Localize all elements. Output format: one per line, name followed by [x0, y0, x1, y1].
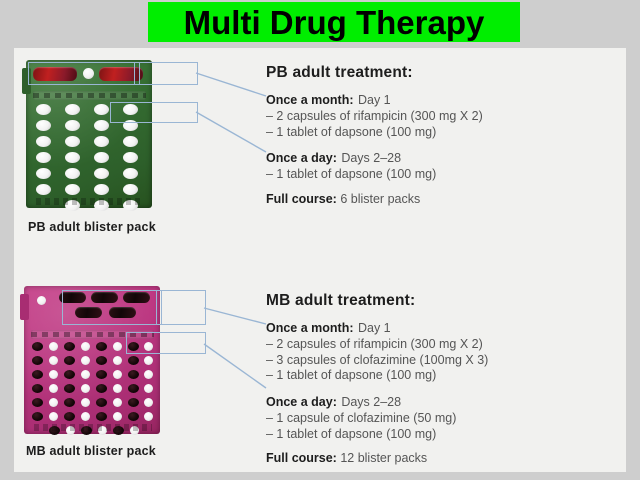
- pb-daily-label: Once a day:: [266, 151, 337, 165]
- mb-treatment-text: MB adult treatment: Once a month: Day 1 …: [266, 292, 606, 465]
- pb-daily-group: Once a day: Days 2–28 – 1 tablet of daps…: [266, 149, 606, 183]
- pb-monthly-item: – 2 capsules of rifampicin (300 mg X 2): [266, 109, 606, 125]
- page-title: Multi Drug Therapy: [184, 6, 485, 39]
- slide: Multi Drug Therapy: [0, 0, 640, 480]
- pb-daily-line: Once a day: Days 2–28: [266, 149, 606, 167]
- pb-monthly-label: Once a month:: [266, 93, 354, 107]
- mb-full-course-value: 12 blister packs: [340, 451, 427, 465]
- pb-monthly-group: Once a month: Day 1 – 2 capsules of rifa…: [266, 91, 606, 140]
- pb-treatment-heading: PB adult treatment:: [266, 64, 606, 82]
- pb-monthly-value: Day 1: [358, 93, 391, 107]
- mb-daily-group: Once a day: Days 2–28 – 1 capsule of clo…: [266, 393, 606, 442]
- pb-monthly-line: Once a month: Day 1: [266, 91, 606, 109]
- pb-full-course: Full course: 6 blister packs: [266, 192, 606, 206]
- pb-daily-value: Days 2–28: [341, 151, 401, 165]
- mb-daily-label: Once a day:: [266, 395, 337, 409]
- mb-pack-caption: MB adult blister pack: [26, 444, 156, 458]
- mb-monthly-item: – 2 capsules of rifampicin (300 mg X 2): [266, 337, 606, 353]
- mb-daily-line: Once a day: Days 2–28: [266, 393, 606, 411]
- mb-full-course: Full course: 12 blister packs: [266, 451, 606, 465]
- mb-daily-item: – 1 tablet of dapsone (100 mg): [266, 427, 606, 443]
- mb-monthly-value: Day 1: [358, 321, 391, 335]
- mb-monthly-label: Once a month:: [266, 321, 354, 335]
- mb-daily-value: Days 2–28: [341, 395, 401, 409]
- pb-monthly-item: – 1 tablet of dapsone (100 mg): [266, 125, 606, 141]
- pb-full-course-value: 6 blister packs: [340, 192, 420, 206]
- mb-daily-item: – 1 capsule of clofazimine (50 mg): [266, 411, 606, 427]
- mb-monthly-item: – 1 tablet of dapsone (100 mg): [266, 368, 606, 384]
- pb-treatment-text: PB adult treatment: Once a month: Day 1 …: [266, 64, 606, 206]
- content-panel: PB adult blister pack: [14, 48, 626, 472]
- pb-daily-item: – 1 tablet of dapsone (100 mg): [266, 167, 606, 183]
- pb-full-course-label: Full course:: [266, 192, 337, 206]
- mb-treatment-heading: MB adult treatment:: [266, 292, 606, 310]
- mb-monthly-group: Once a month: Day 1 – 2 capsules of rifa…: [266, 319, 606, 384]
- mb-monthly-line: Once a month: Day 1: [266, 319, 606, 337]
- mb-full-course-label: Full course:: [266, 451, 337, 465]
- mb-monthly-item: – 3 capsules of clofazimine (100mg X 3): [266, 353, 606, 369]
- slide-title-banner: Multi Drug Therapy: [148, 2, 520, 42]
